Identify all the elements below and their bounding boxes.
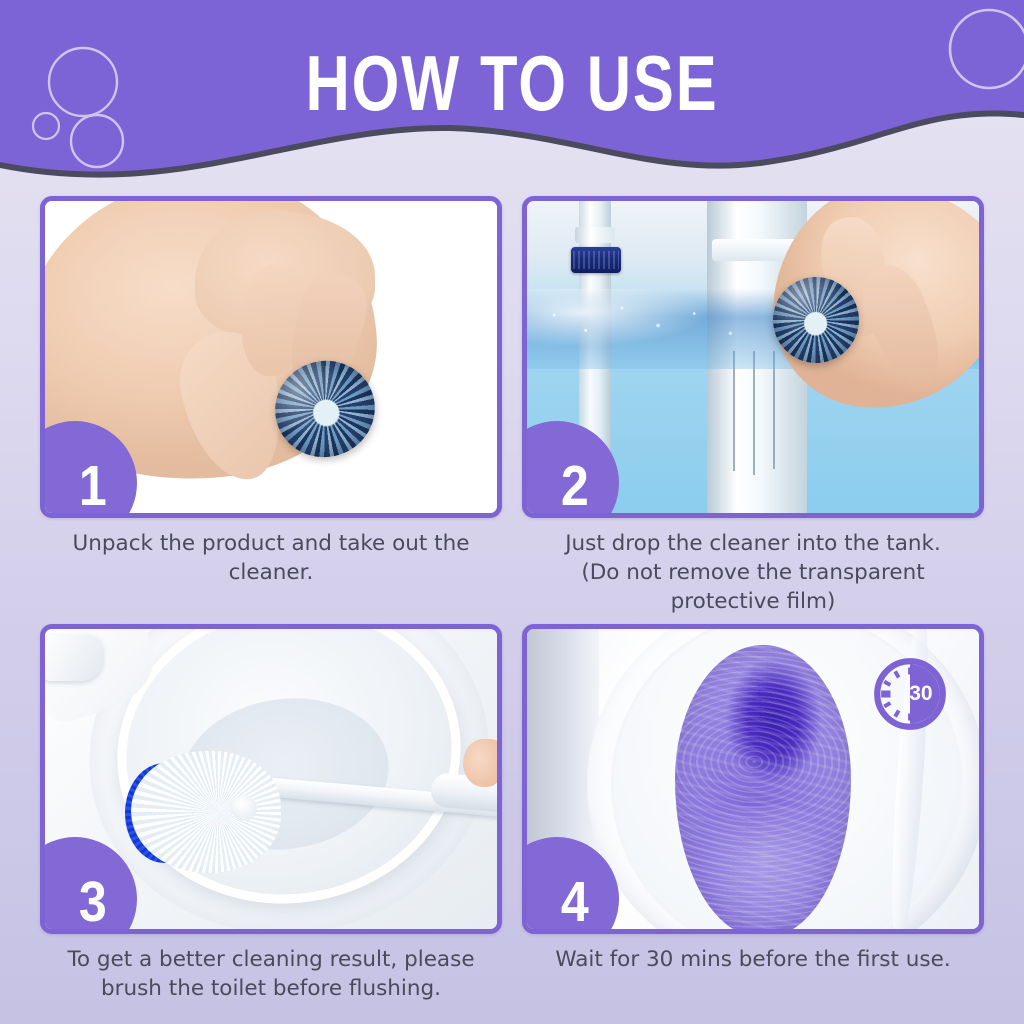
step-number-label: 1 [79,458,107,515]
step-1-caption: Unpack the product and take out the clea… [40,530,502,588]
purple-cleaning-water [675,645,851,929]
page-title: HOW TO USE [36,44,988,122]
timer-badge: 30 [871,655,949,733]
timer-value-label: 30 [909,683,932,706]
steps-grid: 1 Unpack the product and take out the cl… [0,196,1024,1004]
finger-shape [463,739,497,787]
tank-blue-component [571,247,621,273]
step-2-image-frame: 2 [522,196,984,518]
step-card-2: 2 Just drop the cleaner into the tank. (… [522,196,984,616]
step-4-caption: Wait for 30 mins before the first use. [522,946,984,975]
step-2-caption: Just drop the cleaner into the tank. (Do… [522,530,984,616]
timer-clock-icon: 30 [871,655,949,733]
step-card-1: 1 Unpack the product and take out the cl… [40,196,502,616]
step-4-image-frame: 30 4 [522,624,984,934]
tube-slit [733,351,735,471]
tube-slit [753,351,755,475]
step-number-label: 2 [561,458,589,515]
step-number-label: 3 [79,874,107,931]
tank-pipe-cap [575,227,615,243]
brush-white-bristles [131,751,281,873]
step-card-4: 30 4 Wait for 30 mins before the first u… [522,624,984,1004]
step-number-label: 4 [561,874,589,931]
step-1-image-frame: 1 [40,196,502,518]
step-3-caption: To get a better cleaning result, please … [40,946,502,1004]
toilet-seat-hinge [45,635,103,681]
step-card-3: 3 To get a better cleaning result, pleas… [40,624,502,1004]
step-3-image-frame: 3 [40,624,502,934]
header-banner: HOW TO USE [0,0,1024,200]
